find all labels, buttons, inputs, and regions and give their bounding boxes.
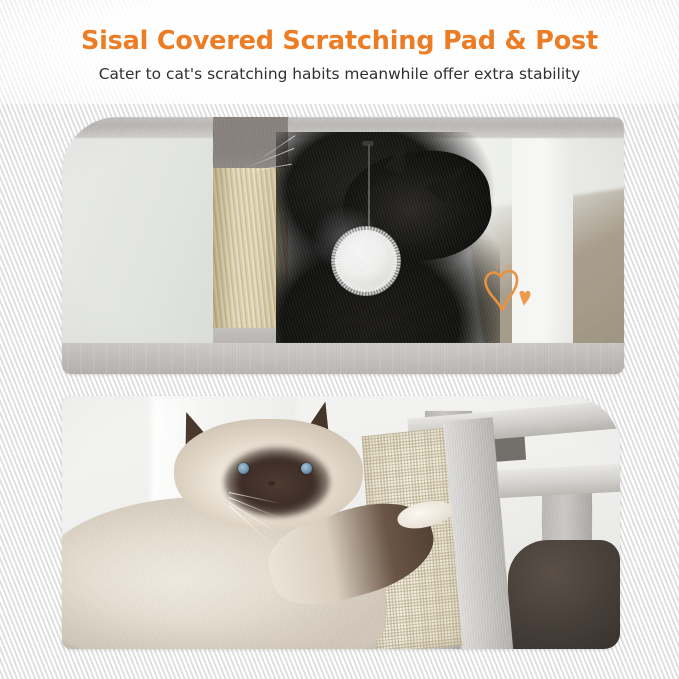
ragdoll-cat-face-mask bbox=[224, 447, 330, 518]
product-feature-graphic: Sisal Covered Scratching Pad & Post Cate… bbox=[0, 0, 679, 679]
pom-pom-toy bbox=[335, 230, 397, 292]
page-subtitle: Cater to cat's scratching habits meanwhi… bbox=[0, 56, 679, 83]
cat-tree-board bbox=[62, 127, 231, 348]
photo-scene-2 bbox=[62, 396, 620, 649]
ragdoll-cat-eye-right bbox=[301, 463, 312, 474]
ragdoll-cat-eye-left bbox=[238, 463, 249, 474]
photo-scene-1 bbox=[62, 117, 624, 374]
wall-column bbox=[512, 117, 574, 374]
header: Sisal Covered Scratching Pad & Post Cate… bbox=[0, 0, 679, 83]
cat-tree-condo-opening bbox=[508, 540, 620, 649]
panel-ragdoll-cat-scratching-pad[interactable] bbox=[62, 396, 620, 649]
panel-black-cat-sisal-post[interactable] bbox=[62, 117, 624, 374]
pom-pom-texture bbox=[335, 230, 397, 292]
bottom-shelf-plush-texture bbox=[62, 343, 624, 374]
page-title: Sisal Covered Scratching Pad & Post bbox=[0, 0, 679, 56]
